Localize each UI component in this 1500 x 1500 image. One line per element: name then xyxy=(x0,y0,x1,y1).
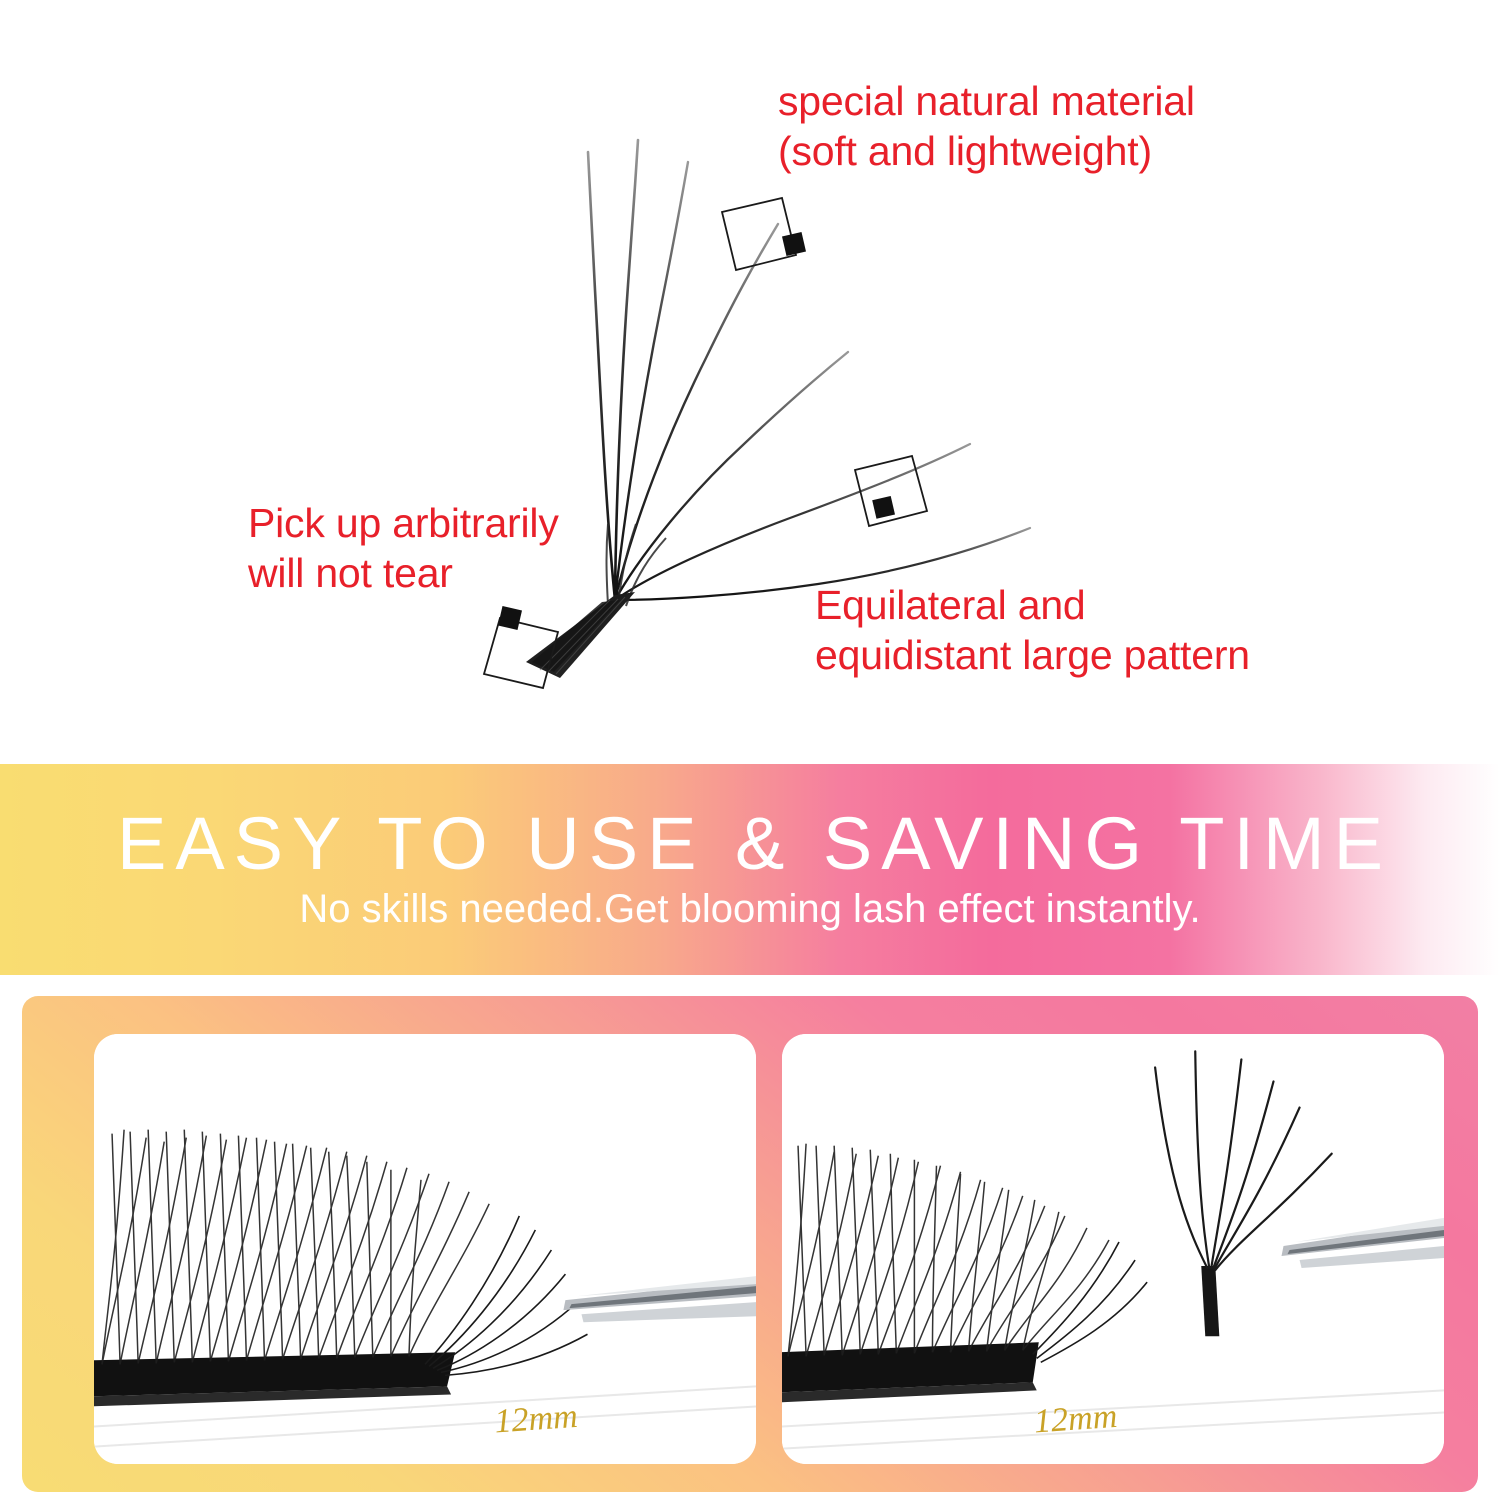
product-feature-page: special natural material (soft and light… xyxy=(0,0,1500,1500)
photo-card-lash-fan-lifted: 12mm 12mm xyxy=(782,1034,1444,1464)
pattern-marker-icon xyxy=(855,456,927,526)
size-marking-text: 12mm xyxy=(1033,1398,1119,1441)
lash-tray-photo: 12mm xyxy=(94,1034,756,1464)
easy-to-use-banner: EASY TO USE & SAVING TIME No skills need… xyxy=(0,764,1500,975)
callout-equilateral: Equilateral and equidistant large patter… xyxy=(815,580,1250,680)
feature-diagram-section: special natural material (soft and light… xyxy=(0,0,1500,760)
photo-card-lash-tray: 12mm 12mm xyxy=(94,1034,756,1464)
size-marking-text: 12mm xyxy=(493,1398,579,1441)
banner-title: EASY TO USE & SAVING TIME xyxy=(108,807,1392,881)
pattern-marker-icon xyxy=(722,198,806,270)
callout-material: special natural material (soft and light… xyxy=(778,76,1195,176)
lash-fan-lifted-photo: 12mm xyxy=(782,1034,1444,1464)
banner-subtitle: No skills needed.Get blooming lash effec… xyxy=(299,887,1200,932)
callout-no-tear: Pick up arbitrarily will not tear xyxy=(248,498,559,598)
photo-gallery-frame: 12mm 12mm xyxy=(22,996,1478,1492)
